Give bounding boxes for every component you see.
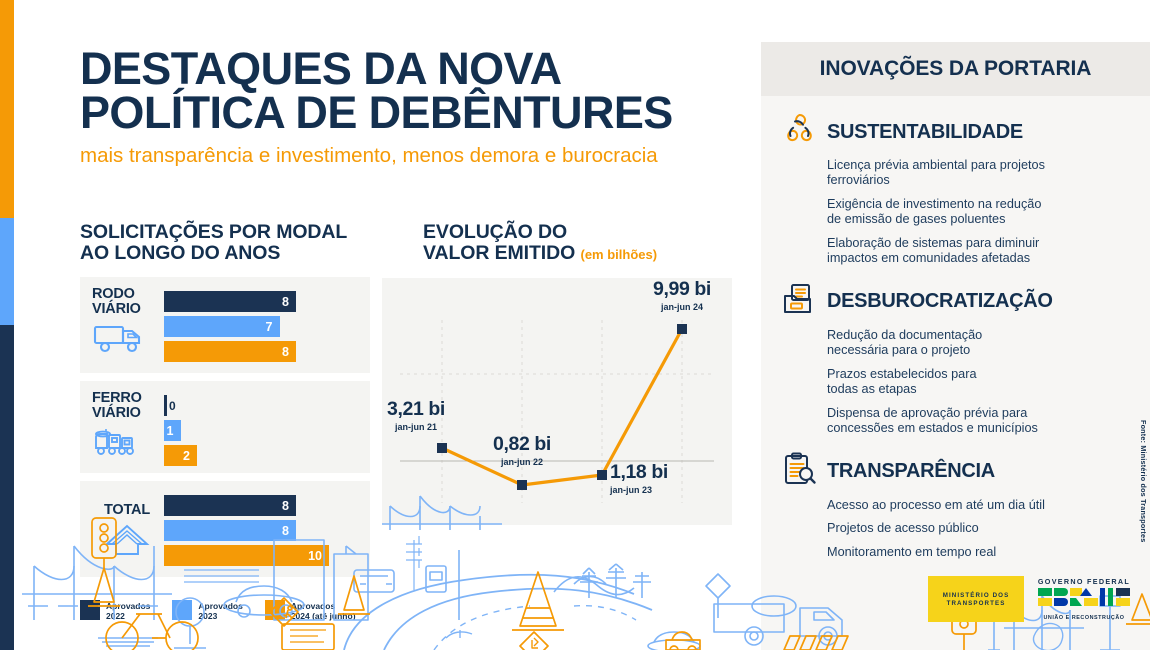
- bar-value: 2: [183, 449, 190, 463]
- pillar-sustentabilidade: SUSTENTABILIDADE Licença prévia ambienta…: [781, 112, 1130, 267]
- bar-row: 1: [164, 420, 364, 441]
- pillar-name: SUSTENTABILIDADE: [827, 122, 1023, 142]
- bar-rodoviario-2024: 8: [164, 341, 296, 362]
- bar-chart-title-line-1: SOLICITAÇÕES POR MODAL: [80, 222, 370, 243]
- pillar-items: Licença prévia ambiental para projetos f…: [827, 158, 1130, 267]
- bar-chart-title: SOLICITAÇÕES POR MODAL AO LONGO DO ANOS: [80, 222, 370, 264]
- bar-rodoviario-2022: 8: [164, 291, 296, 312]
- bar-value: 0: [169, 399, 176, 413]
- bar-chart-title-line-2: AO LONGO DO ANOS: [80, 243, 370, 264]
- line-chart-title: EVOLUÇÃO DO VALOR EMITIDO EVOLUÇÃO DO VA…: [423, 222, 743, 264]
- bar-group-rodoviario-label: RODOVIÁRIO: [92, 287, 162, 317]
- bar-value: 8: [282, 295, 289, 309]
- bar-group-ferroviario: FERROVIÁRIO: [80, 381, 370, 473]
- folder-documents-icon: [781, 282, 818, 321]
- line-chart-title-text-2: VALOR EMITIDO (em bilhões): [423, 243, 743, 264]
- bar-value: 1: [167, 424, 174, 438]
- pillar-item: Dispensa de aprovação prévia para conces…: [827, 406, 1130, 437]
- bar-ferroviario-2024: 2: [164, 445, 197, 466]
- bar-rodoviario-2023: 7: [164, 316, 280, 337]
- pillar-item: Prazos estabelecidos para todas as etapa…: [827, 367, 1130, 398]
- page-subtitle: mais transparência e investimento, menos…: [80, 144, 760, 168]
- innovations-panel-title: INOVAÇÕES DA PORTARIA: [820, 57, 1092, 81]
- pillar-item: Elaboração de sistemas para diminuir imp…: [827, 236, 1130, 267]
- bar-row: 0: [164, 395, 364, 416]
- rail-segment-navy: [0, 325, 14, 650]
- pillar-item: Exigência de investimento na redução de …: [827, 197, 1130, 228]
- headline-block: DESTAQUES DA NOVA POLÍTICA DE DEBÊNTURES…: [80, 47, 760, 168]
- line-markers: [437, 324, 687, 490]
- bar-group-ferroviario-label-block: FERROVIÁRIO: [92, 391, 162, 464]
- pillar-header: TRANSPARÊNCIA: [781, 452, 1130, 491]
- government-logo: GOVERNO FEDERAL UNIÃO E RECONSTRUÇÃO: [1034, 577, 1134, 621]
- line-chart-unit: (em bilhões): [581, 247, 658, 262]
- pillar-name: TRANSPARÊNCIA: [827, 461, 995, 481]
- pillar-name: DESBUROCRATIZAÇÃO: [827, 291, 1053, 311]
- left-color-rail: [0, 0, 14, 650]
- pillar-items: Redução da documentação necessária para …: [827, 328, 1130, 437]
- rail-segment-orange: [0, 0, 14, 218]
- recycle-leaves-icon: [781, 112, 818, 151]
- bar-value: 8: [282, 345, 289, 359]
- government-logo-top: GOVERNO FEDERAL: [1034, 577, 1134, 586]
- line-series-path: [442, 329, 682, 485]
- innovations-panel-header: INOVAÇÕES DA PORTARIA: [761, 42, 1150, 96]
- innovations-panel-body: SUSTENTABILIDADE Licença prévia ambienta…: [761, 96, 1150, 560]
- clipboard-magnifier-icon: [781, 452, 818, 491]
- bar-group-ferroviario-label: FERROVIÁRIO: [92, 391, 162, 421]
- ministry-logo-line-1: MINISTÉRIO DOS: [943, 592, 1010, 599]
- bar-row: 7: [164, 316, 364, 337]
- bar-group-rodoviario-label-block: RODOVIÁRIO: [92, 287, 162, 360]
- ministry-logo: MINISTÉRIO DOS TRANSPORTES: [928, 576, 1024, 622]
- bar-ferroviario-2023: 1: [164, 420, 181, 441]
- bar-group-rodoviario-bars: 8 7 8: [164, 291, 364, 366]
- page-title-line-1: DESTAQUES DA NOVA: [80, 47, 760, 91]
- line-chart-svg: [382, 278, 732, 525]
- line-chart-plot: 3,21 bi jan-jun 21 0,82 bi jan-jun 22 1,…: [382, 278, 732, 525]
- government-logo-bottom: UNIÃO E RECONSTRUÇÃO: [1034, 615, 1134, 621]
- pillar-header: SUSTENTABILIDADE: [781, 112, 1130, 151]
- pillar-desburocratizacao: DESBUROCRATIZAÇÃO Redução da documentaçã…: [781, 282, 1130, 437]
- line-chart-title-main: VALOR EMITIDO: [423, 242, 575, 264]
- brasil-wordmark-icon: [1036, 586, 1132, 608]
- pillar-item: Licença prévia ambiental para projetos f…: [827, 158, 1130, 189]
- bar-row: 2: [164, 445, 364, 466]
- ministry-logo-line-2: TRANSPORTES: [947, 600, 1006, 607]
- truck-icon: [92, 321, 162, 360]
- line-chart-section: EVOLUÇÃO DO VALOR EMITIDO EVOLUÇÃO DO VA…: [423, 222, 743, 525]
- rail-segment-blue: [0, 218, 14, 325]
- plot-bridge-illustration: [382, 490, 502, 530]
- page-title-line-2: POLÍTICA DE DEBÊNTURES: [80, 91, 760, 135]
- bar-ferroviario-2022: 0: [164, 395, 167, 416]
- pillar-header: DESBUROCRATIZAÇÃO: [781, 282, 1130, 321]
- bar-group-ferroviario-bars: 0 1 2: [164, 395, 364, 470]
- bar-group-rodoviario: RODOVIÁRIO 8 7: [80, 277, 370, 373]
- pillar-item: Redução da documentação necessária para …: [827, 328, 1130, 359]
- logo-group: MINISTÉRIO DOS TRANSPORTES GOVERNO FEDER…: [928, 576, 1134, 622]
- bar-value: 7: [266, 320, 273, 334]
- bar-row: 8: [164, 341, 364, 362]
- train-icon: [92, 425, 162, 464]
- line-chart-title-text-1: EVOLUÇÃO DO: [423, 222, 743, 243]
- bar-row: 8: [164, 291, 364, 312]
- page-title: DESTAQUES DA NOVA POLÍTICA DE DEBÊNTURES: [80, 47, 760, 135]
